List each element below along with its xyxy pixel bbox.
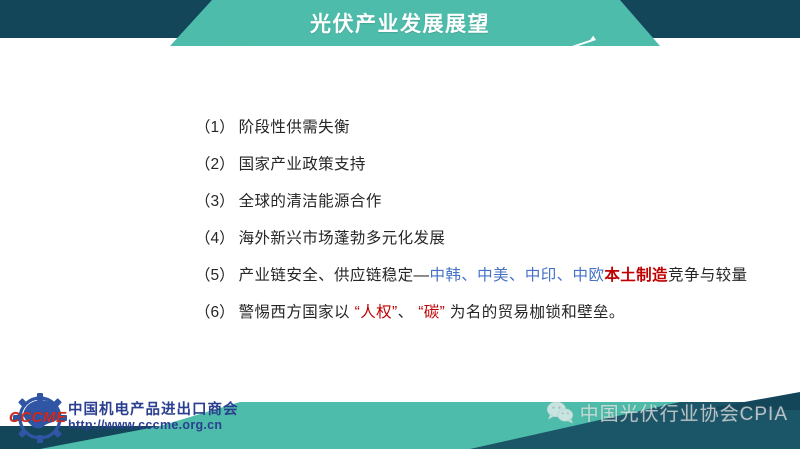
list-item: （3）全球的清洁能源合作 — [195, 194, 775, 210]
list-item-text-tail: 竞争与较量 — [668, 267, 748, 284]
list-item-text-highlight-red: “碳” — [418, 304, 445, 321]
list-item-text-highlight-red: “人权” — [355, 304, 398, 321]
list-item-text: 全球的清洁能源合作 — [239, 193, 382, 210]
list-item-text-plain: 产业链安全、供应链稳定— — [239, 267, 430, 284]
slide-canvas: 光伏产业发展展望 （1）阶段性供需失衡 （2）国家产业政策支持 （3）全球的清洁… — [0, 0, 800, 449]
list-item-number: （4） — [195, 230, 235, 247]
list-item: （5）产业链安全、供应链稳定—中韩、中美、中印、中欧本土制造竞争与较量 — [195, 268, 775, 284]
cccme-org-name: 中国机电产品进出口商会 — [68, 398, 239, 419]
list-item-text-tail: 为名的贸易枷锁和壁垒。 — [445, 304, 625, 321]
list-item-number: （6） — [195, 304, 235, 321]
list-item-text-plain: 警惕西方国家以 — [239, 304, 355, 321]
wechat-icon — [546, 400, 574, 424]
page-title: 光伏产业发展展望 — [0, 8, 800, 38]
list-item-number: （3） — [195, 193, 235, 210]
list-item-text: 海外新兴市场蓬勃多元化发展 — [239, 230, 446, 247]
list-item-number: （2） — [195, 156, 235, 173]
slide-footer: CCCME 中国机电产品进出口商会 http://www.cccme.org.c… — [0, 374, 800, 449]
slide-header: 光伏产业发展展望 — [0, 0, 800, 52]
list-item-text-highlight-red: 本土制造 — [604, 267, 668, 284]
cccme-logo: CCCME 中国机电产品进出口商会 http://www.cccme.org.c… — [2, 391, 242, 443]
bullet-list: （1）阶段性供需失衡 （2）国家产业政策支持 （3）全球的清洁能源合作 （4）海… — [195, 120, 775, 342]
list-item: （6）警惕西方国家以 “人权”、 “碳” 为名的贸易枷锁和壁垒。 — [195, 305, 775, 321]
list-item-text-separator: 、 — [398, 304, 419, 321]
list-item-text-highlight-blue: 中韩、中美、中印、中欧 — [429, 267, 604, 284]
list-item: （1）阶段性供需失衡 — [195, 120, 775, 136]
list-item-text: 阶段性供需失衡 — [239, 119, 350, 136]
cccme-website-url[interactable]: http://www.cccme.org.cn — [68, 418, 222, 432]
list-item: （4）海外新兴市场蓬勃多元化发展 — [195, 231, 775, 247]
cccme-wordmark: CCCME — [9, 409, 67, 426]
list-item-number: （5） — [195, 267, 235, 284]
cpia-watermark: 中国光伏行业协会CPIA — [546, 397, 788, 427]
list-item-text: 国家产业政策支持 — [239, 156, 366, 173]
list-item: （2）国家产业政策支持 — [195, 157, 775, 173]
list-item-number: （1） — [195, 119, 235, 136]
cpia-label: 中国光伏行业协会CPIA — [580, 399, 788, 426]
